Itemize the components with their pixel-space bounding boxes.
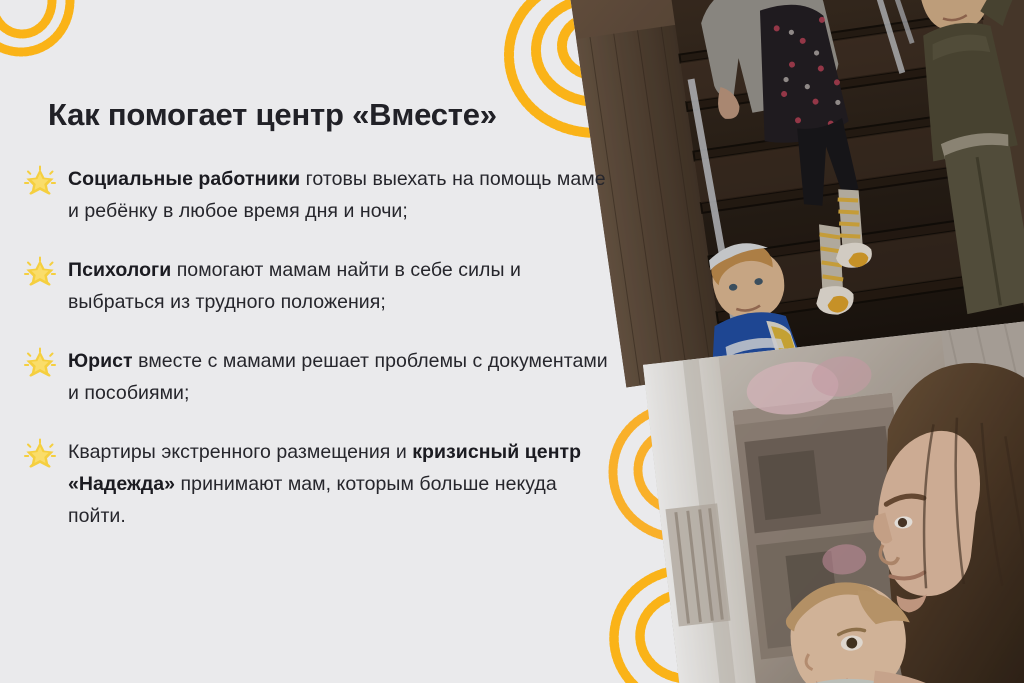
sparkle-star-icon — [22, 347, 58, 379]
list-item: Психологи помогают мамам найти в себе си… — [20, 255, 620, 318]
text-column: Как помогает центр «Вместе» Социальные р… — [0, 0, 620, 683]
list-item-text: Квартиры экстренного размещения и кризис… — [68, 441, 581, 526]
benefits-list: Социальные работники готовы выехать на п… — [20, 164, 620, 532]
list-item: Юрист вместе с мамами решает проблемы с … — [20, 346, 620, 409]
poster-canvas: Как помогает центр «Вместе» Социальные р… — [0, 0, 1024, 683]
page-title: Как помогает центр «Вместе» — [48, 96, 608, 133]
list-item-rest: вместе с мамами решает проблемы с докуме… — [68, 350, 608, 404]
list-item: Квартиры экстренного размещения и кризис… — [20, 437, 620, 532]
list-item-lead: Социальные работники — [68, 168, 300, 190]
photo-mother-with-child — [643, 317, 1024, 683]
list-item-lead: Юрист — [68, 350, 133, 372]
list-item-lead: Психологи — [68, 259, 171, 281]
list-item: Социальные работники готовы выехать на п… — [20, 164, 620, 227]
list-item-pre: Квартиры экстренного размещения и — [68, 441, 412, 463]
list-item-text: Психологи помогают мамам найти в себе си… — [68, 259, 521, 313]
list-item-text: Юрист вместе с мамами решает проблемы с … — [68, 350, 608, 404]
sparkle-star-icon — [22, 165, 58, 197]
list-item-text: Социальные работники готовы выехать на п… — [68, 168, 606, 222]
sparkle-star-icon — [22, 438, 58, 470]
sparkle-star-icon — [22, 256, 58, 288]
